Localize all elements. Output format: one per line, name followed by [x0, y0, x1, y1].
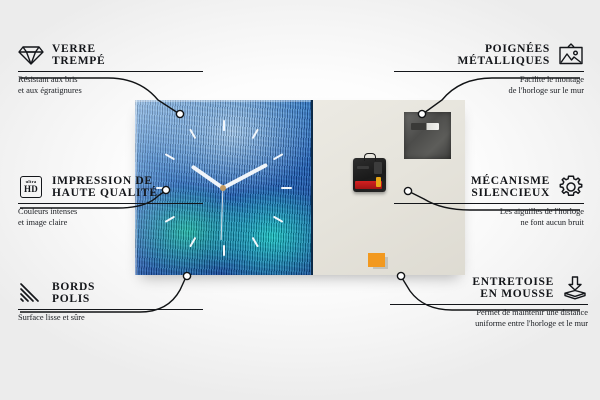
feature-silent-mechanism-rule	[394, 203, 584, 204]
feature-foam-spacer-desc: Permet de maintenir une distance uniform…	[390, 308, 588, 329]
feature-polished-edges-rule	[18, 309, 203, 310]
clock-tick-12	[223, 120, 225, 131]
feature-print-quality-desc: Couleurs intenses et image claire	[18, 207, 203, 228]
feature-print-quality-title: IMPRESSION DE HAUTE QUALITÉ	[52, 175, 158, 200]
clock-tick-3	[281, 187, 292, 189]
hanger-slot	[411, 123, 439, 130]
feature-metal-handles: POIGNÉES MÉTALLIQUES Facilite le montage…	[394, 42, 584, 96]
feature-tempered-glass-desc: Résistant aux bris et aux égratignures	[18, 75, 203, 96]
ultra-hd-icon-large-text: HD	[24, 185, 38, 194]
feature-polished-edges: BORDS POLIS Surface lisse et sûre	[18, 280, 203, 324]
clock-center-cap	[220, 185, 226, 191]
feature-print-quality-rule	[18, 203, 203, 204]
battery	[355, 181, 382, 189]
feature-silent-mechanism-head: MÉCANISME SILENCIEUX	[394, 174, 584, 200]
infographic-stage: VERRE TREMPÉ Résistant aux bris et aux é…	[0, 0, 600, 400]
feature-metal-handles-head: POIGNÉES MÉTALLIQUES	[394, 42, 584, 68]
diamond-icon	[18, 42, 44, 68]
battery-terminal	[376, 177, 381, 187]
mechanism-detail	[374, 162, 382, 174]
foam-spacer-icon	[562, 275, 588, 301]
feature-polished-edges-head: BORDS POLIS	[18, 280, 203, 306]
feature-print-quality-head: ultra HD IMPRESSION DE HAUTE QUALITÉ	[18, 174, 203, 200]
quartz-mechanism	[353, 158, 386, 192]
feature-foam-spacer-title: ENTRETOISE EN MOUSSE	[472, 276, 554, 301]
ultra-hd-icon: ultra HD	[18, 174, 44, 200]
feature-metal-handles-desc: Facilite le montage de l'horloge sur le …	[394, 75, 584, 96]
feature-polished-edges-desc: Surface lisse et sûre	[18, 313, 203, 324]
clock-tick-6	[223, 245, 225, 256]
feature-tempered-glass: VERRE TREMPÉ Résistant aux bris et aux é…	[18, 42, 203, 96]
foam-spacer-pad	[368, 253, 385, 267]
polished-edge-icon	[18, 280, 44, 306]
feature-metal-handles-rule	[394, 71, 584, 72]
feature-metal-handles-title: POIGNÉES MÉTALLIQUES	[458, 43, 550, 68]
gear-icon	[558, 174, 584, 200]
feature-foam-spacer-head: ENTRETOISE EN MOUSSE	[390, 275, 588, 301]
feature-silent-mechanism: MÉCANISME SILENCIEUX Les aiguilles de l'…	[394, 174, 584, 228]
picture-frame-icon	[558, 42, 584, 68]
feature-print-quality: ultra HD IMPRESSION DE HAUTE QUALITÉ Cou…	[18, 174, 203, 228]
metal-hanger-plate	[404, 112, 451, 159]
feature-polished-edges-title: BORDS POLIS	[52, 281, 95, 306]
feature-foam-spacer-rule	[390, 304, 588, 305]
mechanism-hanging-loop	[364, 153, 376, 161]
feature-silent-mechanism-desc: Les aiguilles de l'horloge ne font aucun…	[394, 207, 584, 228]
feature-silent-mechanism-title: MÉCANISME SILENCIEUX	[471, 175, 550, 200]
feature-tempered-glass-title: VERRE TREMPÉ	[52, 43, 105, 68]
mechanism-detail-secondary	[357, 166, 369, 169]
feature-tempered-glass-head: VERRE TREMPÉ	[18, 42, 203, 68]
feature-foam-spacer: ENTRETOISE EN MOUSSE Permet de maintenir…	[390, 275, 588, 329]
feature-tempered-glass-rule	[18, 71, 203, 72]
